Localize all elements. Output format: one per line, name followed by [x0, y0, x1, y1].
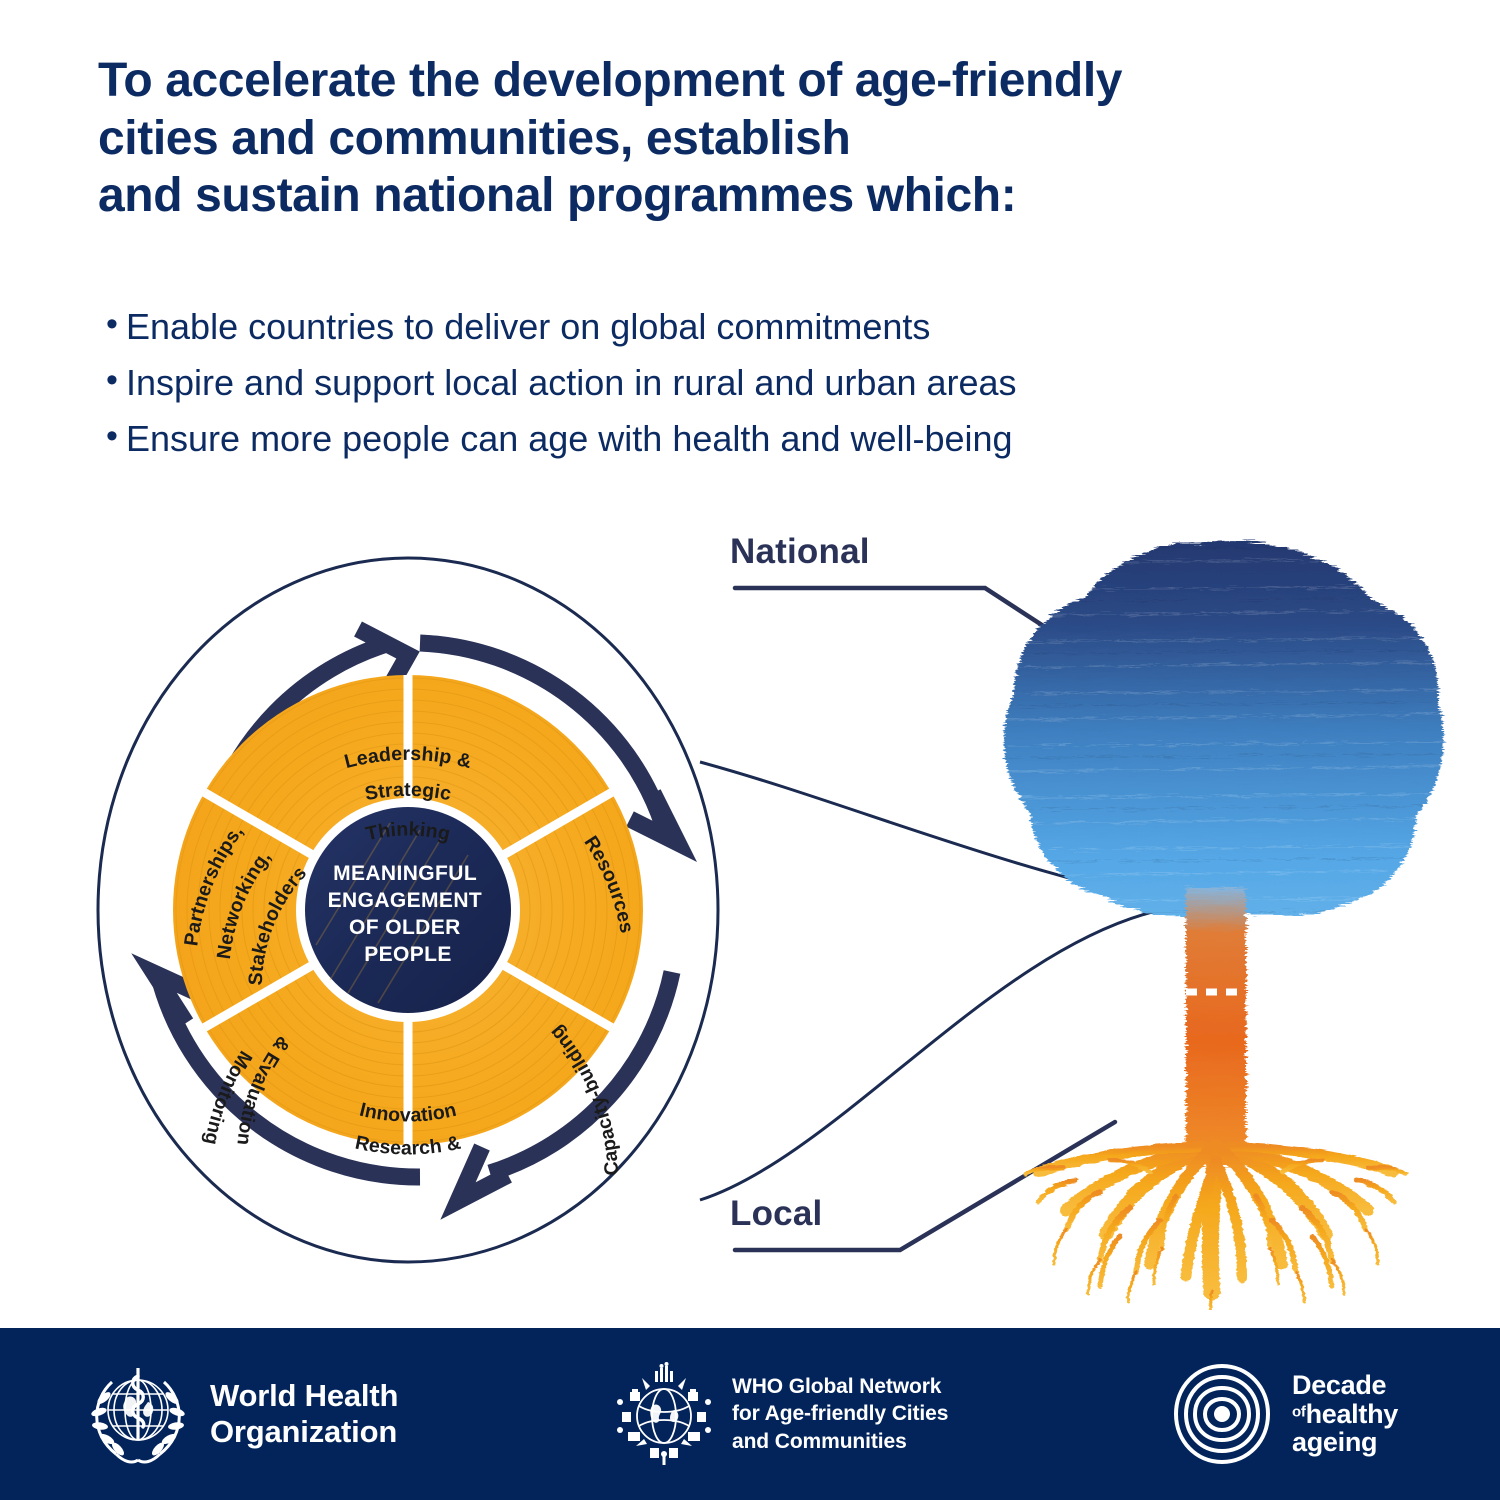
decade-logo: Decade ofhealthy ageing	[1168, 1360, 1398, 1468]
tree-trunk	[1186, 888, 1246, 1166]
hub-line-4: PEOPLE	[364, 943, 452, 966]
bullet-point-icon: •	[98, 417, 126, 453]
footer-bar: World Health Organization	[0, 1328, 1500, 1500]
wheel-svg: MEANINGFUL ENGAGEMENT OF OLDER PEOPLE Le…	[90, 525, 780, 1295]
decade-logo-text: Decade ofhealthy ageing	[1292, 1371, 1398, 1456]
gnafc-logo-line-1: WHO Global Network	[732, 1373, 948, 1400]
bullet-text: Enable countries to deliver on global co…	[126, 305, 930, 349]
meaningful-engagement-wheel: MEANINGFUL ENGAGEMENT OF OLDER PEOPLE Le…	[90, 525, 780, 1295]
arrowhead-bottom	[458, 1147, 508, 1201]
gnafc-logo-line-3: and Communities	[732, 1428, 948, 1455]
who-emblem-icon	[82, 1358, 194, 1470]
who-logo-line-2: Organization	[210, 1414, 398, 1450]
bullet-text: Ensure more people can age with health a…	[126, 417, 1013, 461]
illustration-stage: MEANINGFUL ENGAGEMENT OF OLDER PEOPLE Le…	[0, 500, 1500, 1330]
list-item: • Enable countries to deliver on global …	[98, 305, 1358, 349]
page-title: To accelerate the development of age-fri…	[98, 52, 1438, 225]
who-logo-line-1: World Health	[210, 1378, 398, 1414]
callout-label-local: Local	[730, 1194, 822, 1234]
title-line-2: cities and communities, establish	[98, 110, 1438, 168]
who-logo-text: World Health Organization	[210, 1378, 398, 1450]
list-item: • Ensure more people can age with health…	[98, 417, 1358, 461]
decade-logo-of: of	[1292, 1403, 1306, 1420]
bullet-point-icon: •	[98, 305, 126, 341]
hub-line-1: MEANINGFUL	[333, 862, 477, 885]
tree-canopy	[1004, 541, 1444, 916]
decade-logo-line-2: healthy	[1306, 1399, 1398, 1429]
title-line-1: To accelerate the development of age-fri…	[98, 52, 1438, 110]
decade-logo-line-3: ageing	[1292, 1428, 1398, 1456]
title-line-3: and sustain national programmes which:	[98, 167, 1438, 225]
bullet-point-icon: •	[98, 361, 126, 397]
gnafc-logo-text: WHO Global Network for Age-friendly Citi…	[732, 1373, 948, 1455]
gnafc-logo-line-2: for Age-friendly Cities	[732, 1400, 948, 1427]
tree-roots	[1026, 1146, 1406, 1310]
hub-line-3: OF OLDER	[349, 916, 461, 939]
list-item: • Inspire and support local action in ru…	[98, 361, 1358, 405]
bullet-text: Inspire and support local action in rura…	[126, 361, 1017, 405]
who-logo: World Health Organization	[82, 1358, 398, 1470]
tree-svg	[980, 520, 1450, 1310]
tree-illustration	[980, 520, 1450, 1310]
decade-logo-line-2-wrap: ofhealthy	[1292, 1400, 1398, 1428]
bullet-list: • Enable countries to deliver on global …	[98, 305, 1358, 473]
globe-people-icon	[612, 1362, 716, 1466]
gnafc-logo: WHO Global Network for Age-friendly Citi…	[612, 1362, 948, 1466]
header: To accelerate the development of age-fri…	[98, 52, 1438, 225]
concentric-rings-icon	[1168, 1360, 1276, 1468]
decade-logo-line-1: Decade	[1292, 1371, 1398, 1399]
hub-line-2: ENGAGEMENT	[328, 889, 483, 912]
callout-label-national: National	[730, 532, 870, 572]
